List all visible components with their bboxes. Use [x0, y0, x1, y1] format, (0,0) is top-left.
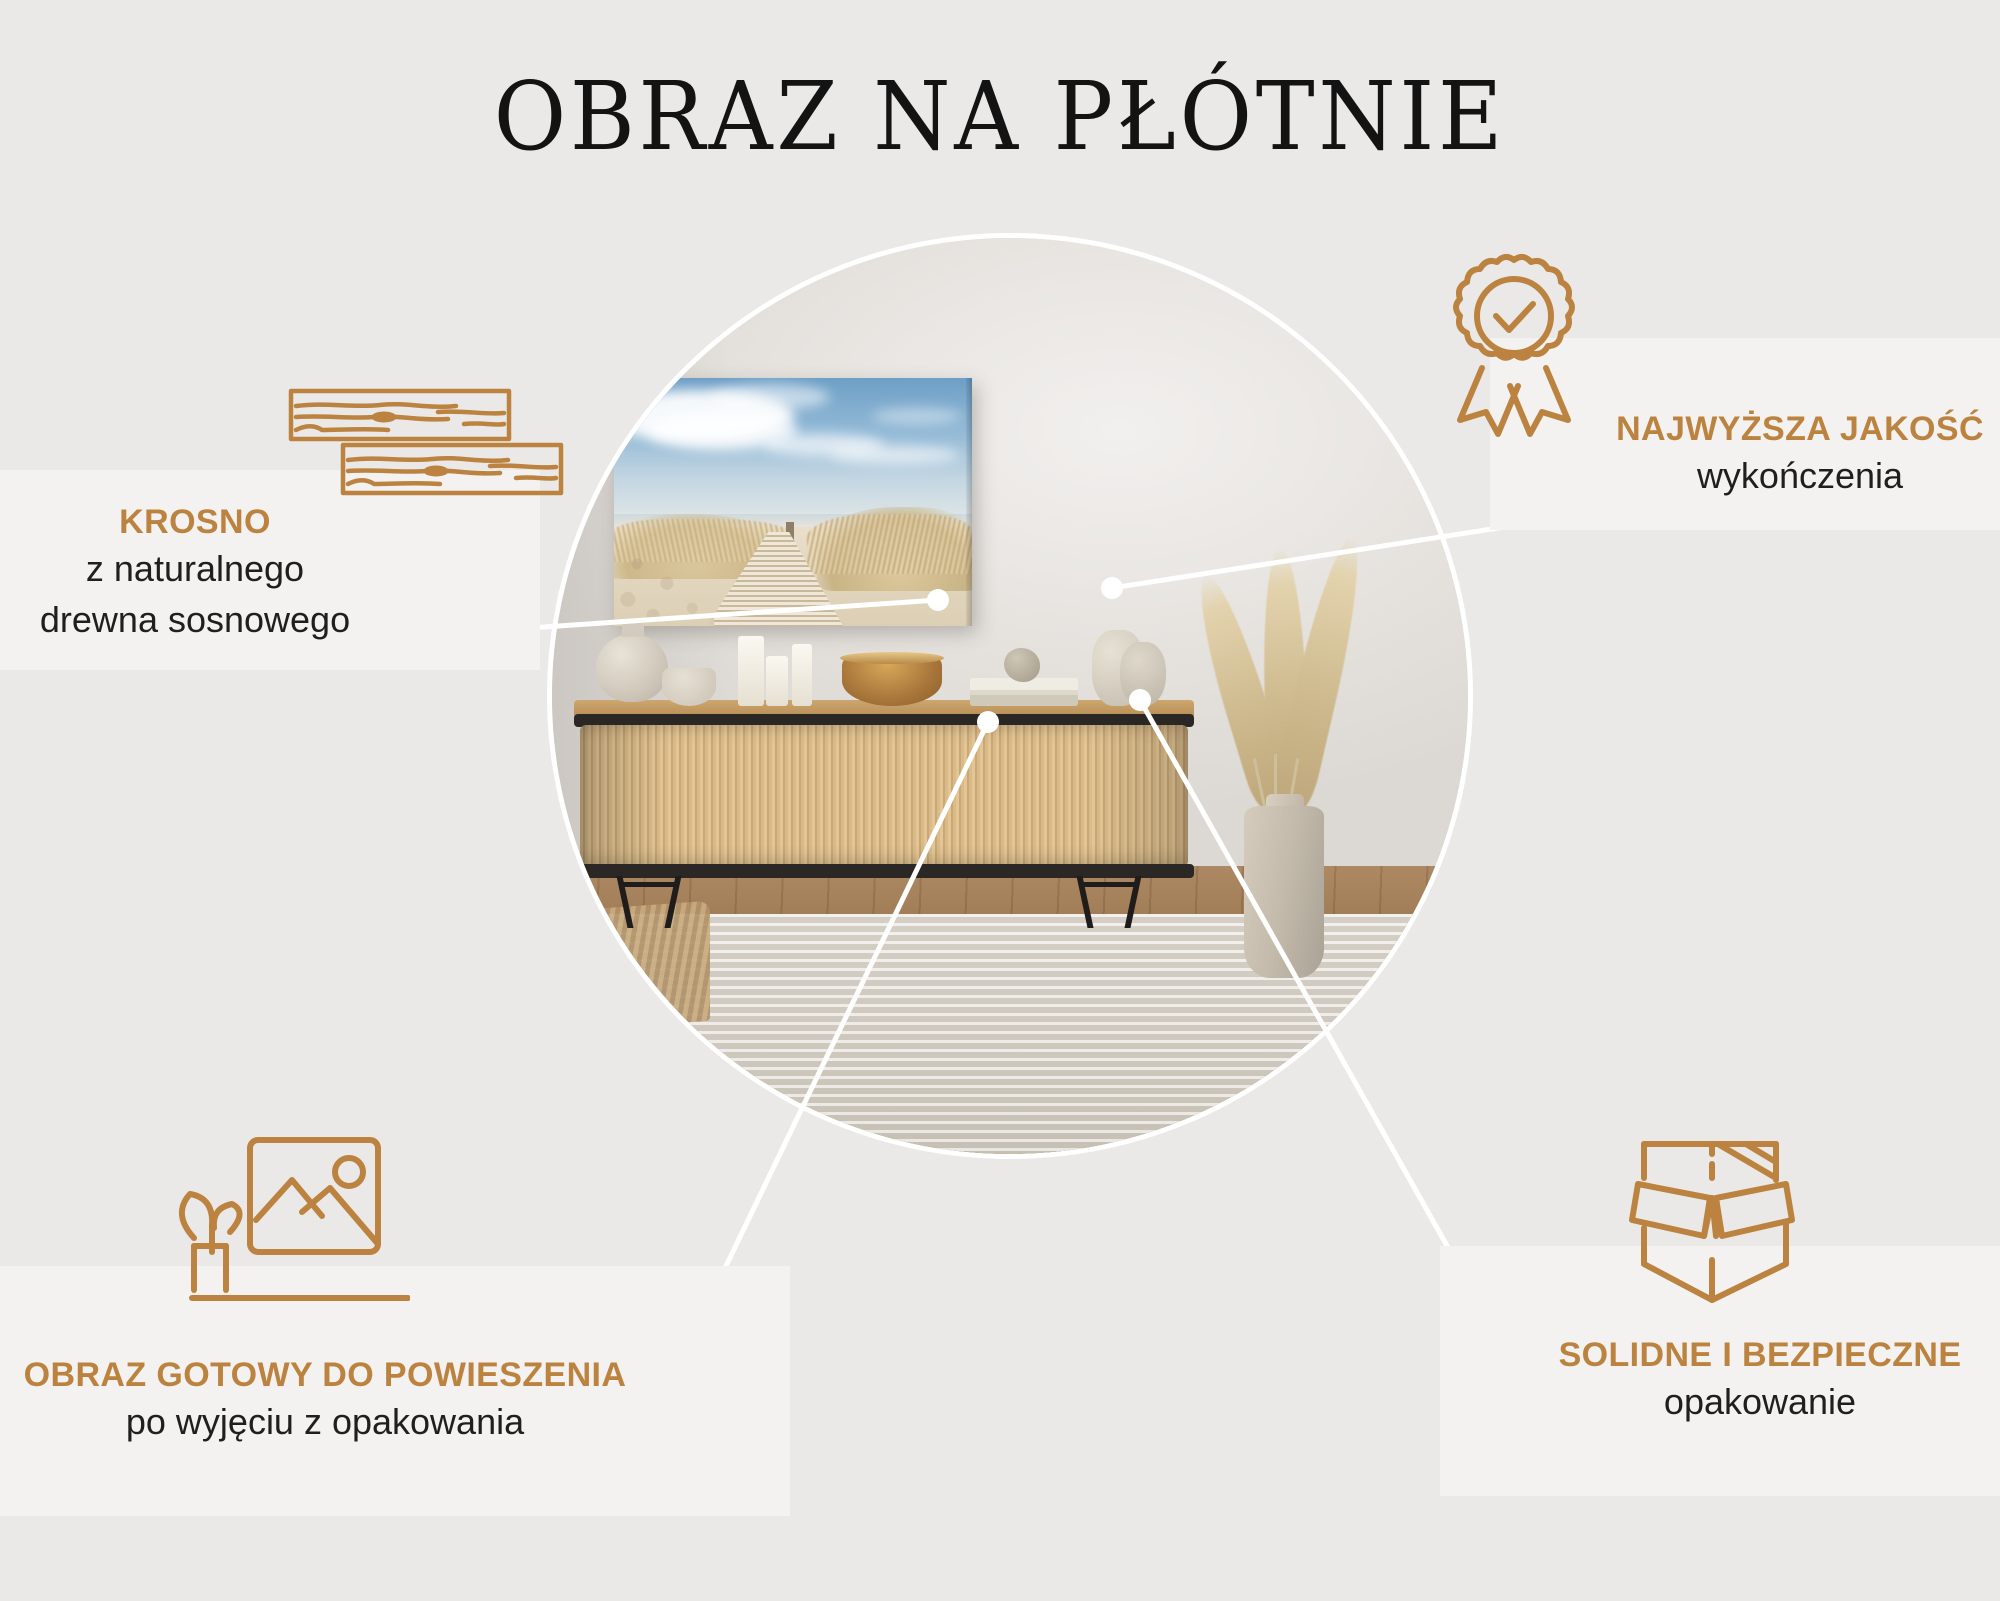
artwork-sand-footprints: [614, 537, 729, 626]
cloud: [872, 408, 962, 424]
framed-picture-icon: [150, 1128, 410, 1328]
decorative-stone: [1004, 648, 1040, 682]
room-scene-circle: [552, 238, 1468, 1154]
artwork-dune-grass-right: [807, 514, 972, 574]
sideboard-furniture: [574, 700, 1194, 894]
feature-heading-jakosc: NAJWYŻSZA JAKOŚĆ: [1570, 409, 2000, 449]
ceramic-vase-round: [596, 634, 668, 702]
feature-sub-gotowy-line1: po wyjęciu z opakowania: [0, 1399, 650, 1446]
brass-bowl-rim: [840, 652, 944, 664]
room-photo: [552, 238, 1468, 1154]
open-box-icon: [1620, 1118, 1810, 1308]
cloud: [710, 384, 830, 410]
feature-panel-krosno: KROSNO z naturalnego drewna sosnowego: [0, 470, 540, 670]
wood-planks-icon: [288, 388, 564, 498]
feature-sub-opakowanie-line1: opakowanie: [1500, 1379, 2000, 1426]
floor-vase: [1244, 806, 1324, 978]
sideboard-fluted-front: [580, 725, 1188, 867]
wicker-basket: [560, 901, 710, 1031]
quality-badge-icon: [1424, 252, 1604, 442]
candle: [738, 636, 764, 706]
feature-heading-opakowanie: SOLIDNE I BEZPIECZNE: [1500, 1335, 2000, 1375]
feature-sub-krosno-line2: drewna sosnowego: [0, 597, 390, 644]
sideboard-leg-bar: [622, 882, 676, 887]
canvas-artwork: [614, 378, 972, 626]
ceramic-bowl-small: [662, 668, 716, 706]
sideboard-leg-bar: [1080, 882, 1136, 887]
feature-heading-krosno: KROSNO: [0, 502, 390, 542]
feature-heading-gotowy: OBRAZ GOTOWY DO POWIESZENIA: [0, 1355, 650, 1395]
stacked-books: [970, 678, 1078, 706]
sideboard-base-band: [574, 864, 1194, 878]
feature-sub-krosno-line1: z naturalnego: [0, 546, 390, 593]
artwork-canvas-edge: [966, 378, 972, 626]
feature-sub-jakosc-line1: wykończenia: [1570, 453, 2000, 500]
candle: [792, 644, 812, 706]
page-title: OBRAZ NA PŁÓTNIE: [70, 66, 1930, 169]
candle: [766, 656, 788, 706]
ceramic-vase-b: [1120, 642, 1166, 706]
infographic-stage: OBRAZ NA PŁÓTNIE: [0, 0, 2000, 1601]
cloud: [830, 446, 960, 464]
